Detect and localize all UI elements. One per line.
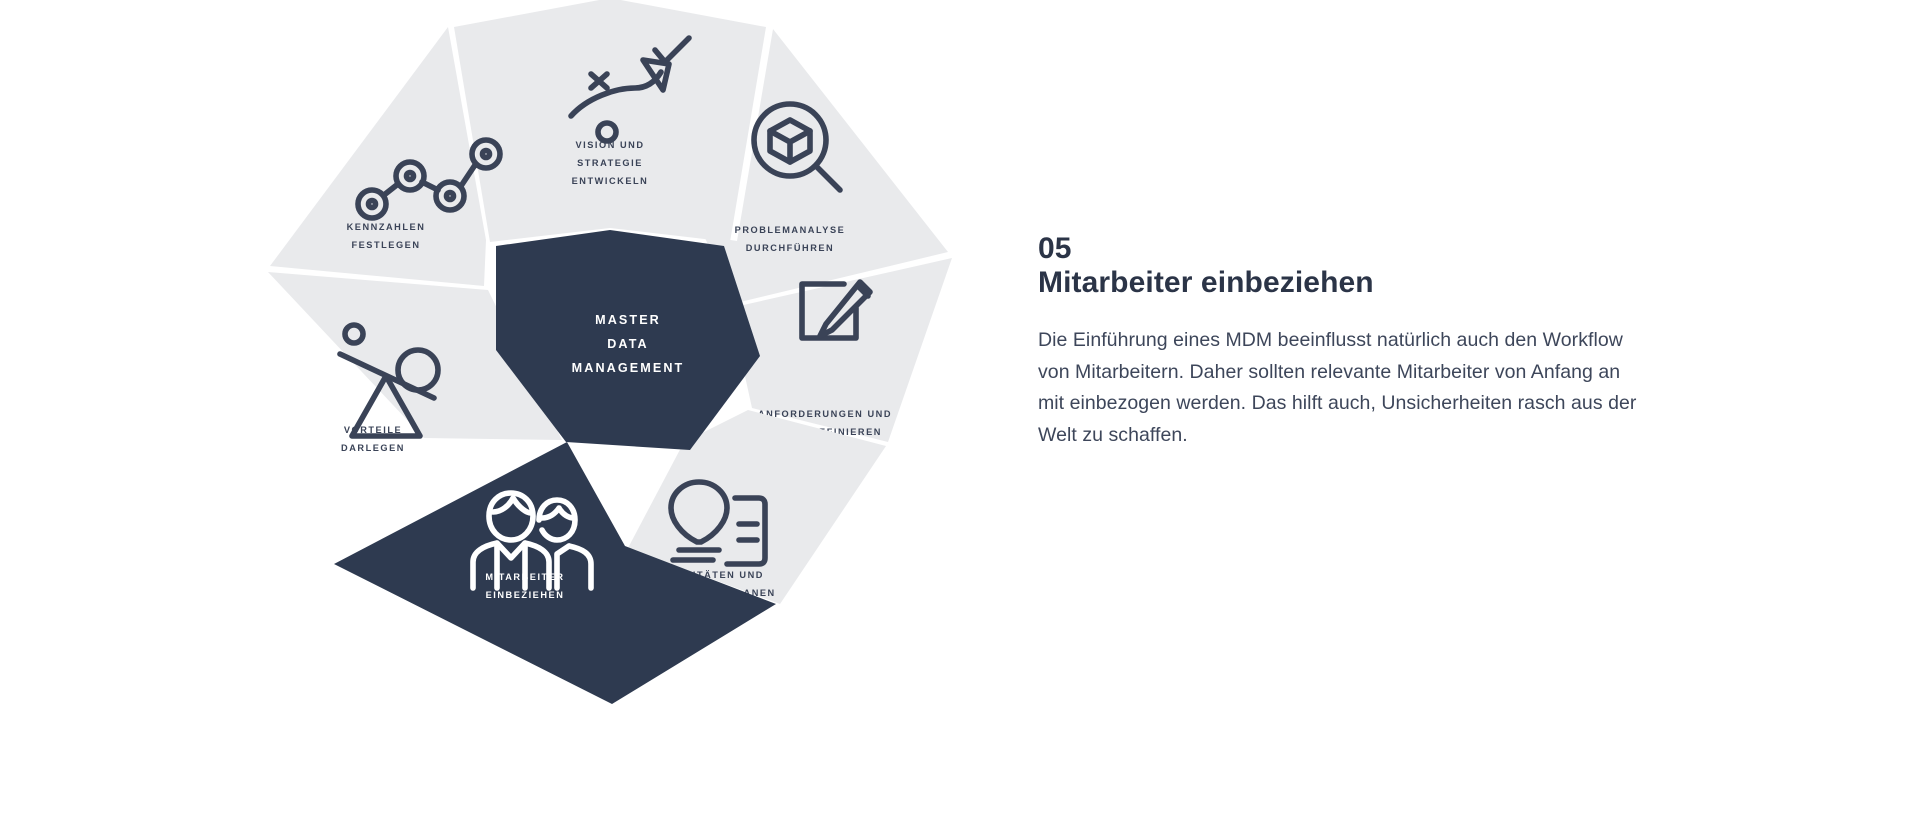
center-label-line: MASTER [595, 313, 661, 327]
segment-label-line: VISION UND [575, 140, 644, 150]
step-headline: Mitarbeiter einbeziehen [1038, 266, 1678, 300]
segment-label-line: VORTEILE [344, 425, 402, 435]
center-label-line: DATA [607, 337, 649, 351]
segment-label-line: ENTWICKELN [572, 176, 649, 186]
segment-label-line: DURCHFÜHREN [746, 243, 835, 253]
detail-panel: 05 Mitarbeiter einbeziehen Die Einführun… [1038, 232, 1678, 452]
segment-label-line: ANFORDERUNGEN UND [758, 409, 892, 419]
wheel-segment-vision-und-strategie-entwickeln[interactable]: VISION UND STRATEGIE ENTWICKELN [454, 0, 766, 242]
center-label-line: MANAGEMENT [572, 361, 685, 375]
segment-label-line: EINBEZIEHEN [486, 590, 565, 600]
segment-label-line: STRATEGIE [577, 158, 643, 168]
segment-label-line: FESTLEGEN [351, 240, 420, 250]
segment-label-line: DARLEGEN [341, 443, 405, 453]
wheel-svg: VISION UND STRATEGIE ENTWICKELN PROBLEMA… [260, 0, 960, 720]
step-number: 05 [1038, 232, 1678, 266]
segment-label-line: PROBLEMANALYSE [735, 225, 846, 235]
segment-label-line: KENNZAHLEN [347, 222, 426, 232]
infographic-page: VISION UND STRATEGIE ENTWICKELN PROBLEMA… [0, 0, 1920, 826]
mdm-process-wheel: VISION UND STRATEGIE ENTWICKELN PROBLEMA… [260, 0, 960, 720]
segment-label-line: MITARBEITER [485, 572, 564, 582]
step-body-text: Die Einführung eines MDM beeinflusst nat… [1038, 325, 1638, 451]
